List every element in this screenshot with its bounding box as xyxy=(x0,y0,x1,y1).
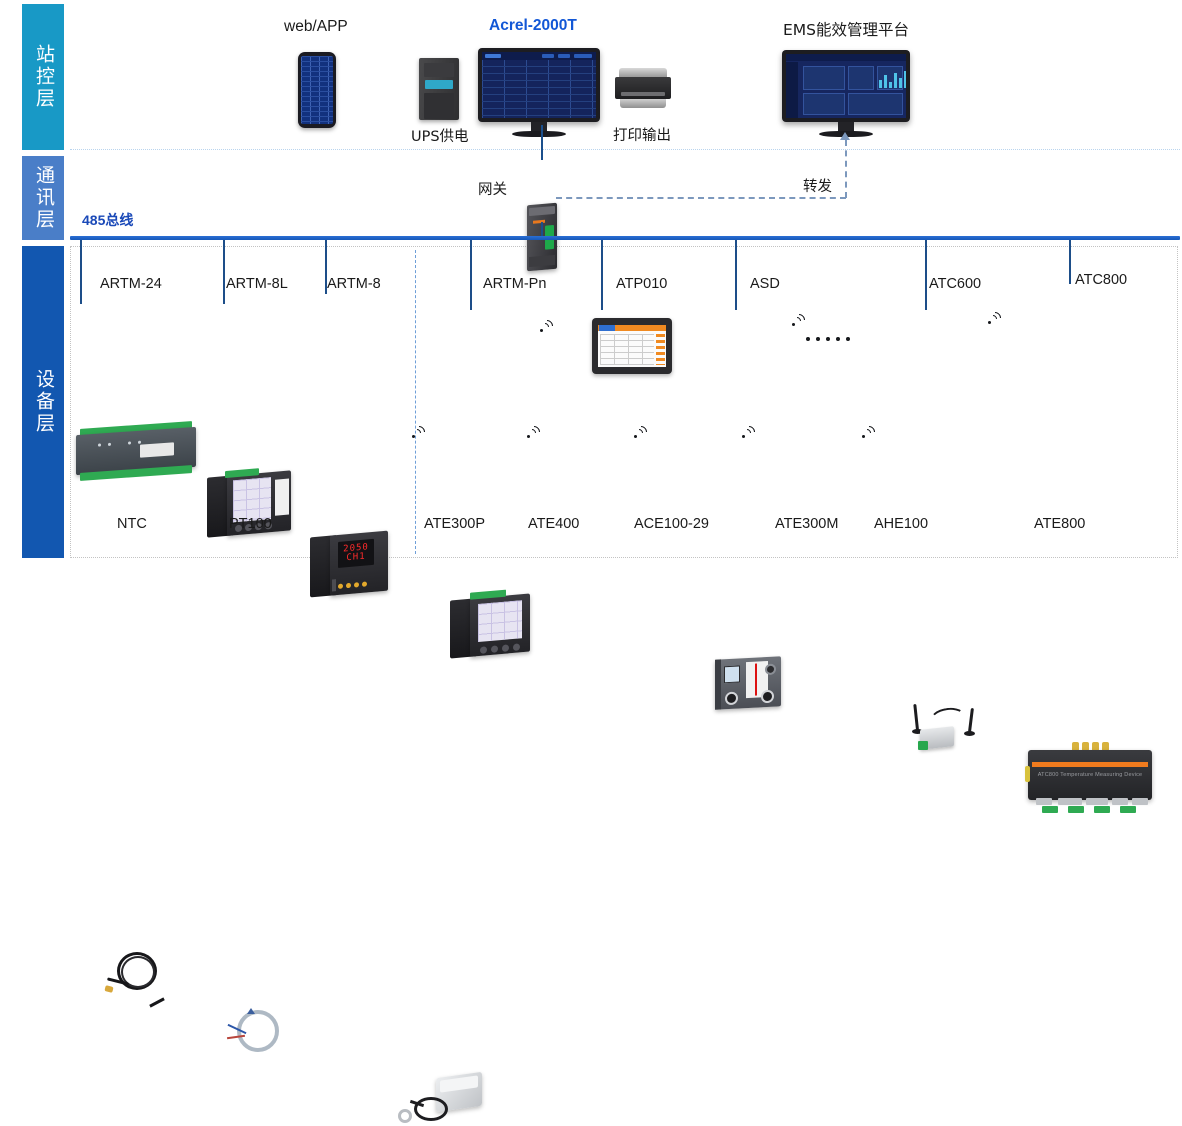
bus-drop-atp010 xyxy=(601,240,603,310)
ace100-29-label: ACE100-29 xyxy=(634,516,709,532)
layer-tab-communication-label: 通讯层 xyxy=(31,165,55,231)
artm-pn-device-icon xyxy=(450,594,530,659)
atc800-label: ATC800 xyxy=(1075,272,1127,288)
acrel-2000t-label: Acrel-2000T xyxy=(489,17,577,35)
artm-24-label: ARTM-24 xyxy=(100,276,162,292)
bus-drop-atc600 xyxy=(925,240,927,310)
ntc-label: NTC xyxy=(117,516,147,532)
printer-label: 打印输出 xyxy=(613,124,671,145)
artm-pn-wireless-icon xyxy=(540,318,557,332)
bus-drop-atc800 xyxy=(1069,240,1071,284)
web-app-label: web/APP xyxy=(284,18,348,36)
asd-label: ASD xyxy=(750,276,780,292)
artm-8-device-icon: 2050 CH1 xyxy=(310,531,388,598)
ems-platform-label: EMS能效管理平台 xyxy=(783,18,909,40)
bus-drop-asd xyxy=(735,240,737,310)
atc600-label: ATC600 xyxy=(929,276,981,292)
layer-tab-station-label: 站控层 xyxy=(31,44,55,110)
ems-platform-monitor-icon xyxy=(782,50,910,137)
ntc-sensor-icon xyxy=(105,946,167,1006)
ahe100-wireless-icon xyxy=(862,424,879,438)
ate300m-wireless-icon xyxy=(742,424,759,438)
architecture-diagram: 站控层 通讯层 设备层 web/APP UPS供电 Acrel-2000T xyxy=(0,0,1182,563)
ups-label: UPS供电 xyxy=(411,125,469,146)
bus-drop-artm-pn xyxy=(470,240,472,310)
monitor-gateway-link xyxy=(541,125,543,160)
ups-device-icon xyxy=(419,58,459,120)
forward-path-horizontal xyxy=(556,197,846,199)
forward-path-vertical xyxy=(845,140,847,198)
ace100-29-wireless-icon xyxy=(634,424,651,438)
pt100-sensor-icon xyxy=(225,1006,287,1066)
layer-tab-device-label: 设备层 xyxy=(31,369,55,435)
layer-tab-communication: 通讯层 xyxy=(22,156,64,240)
atc800-device-icon: ATC800 Temperature Measuring Device xyxy=(1028,742,1152,808)
bus-drop-artm-8l xyxy=(223,240,225,304)
rs485-bus-bar xyxy=(70,236,1180,240)
artm-24-device-icon xyxy=(76,421,196,481)
web-app-phone-icon xyxy=(298,52,336,128)
ate300p-label: ATE300P xyxy=(424,516,485,532)
printer-icon xyxy=(615,68,671,112)
ahe100-label: AHE100 xyxy=(874,516,928,532)
wired-wireless-divider xyxy=(415,250,416,554)
asd-more-devices-dots xyxy=(806,337,850,341)
bus-drop-artm-24 xyxy=(80,240,82,304)
atp010-device-icon xyxy=(592,318,672,374)
ate400-label: ATE400 xyxy=(528,516,579,532)
gateway-label: 网关 xyxy=(478,178,507,199)
layer-tab-device: 设备层 xyxy=(22,246,64,558)
artm-8-display-line2: CH1 xyxy=(346,553,365,564)
atc800-device-text: ATC800 Temperature Measuring Device xyxy=(1028,772,1152,778)
asd-wireless-icon xyxy=(792,312,809,326)
atc600-wireless-icon xyxy=(988,310,1005,324)
ate400-wireless-icon xyxy=(527,424,544,438)
forward-path-arrow-icon xyxy=(840,132,850,140)
pt100-label: PT100 xyxy=(229,516,272,532)
atc600-device-icon xyxy=(908,702,986,752)
ate300p-wireless-icon xyxy=(412,424,429,438)
artm-8l-label: ARTM-8L xyxy=(226,276,288,292)
asd-device-icon xyxy=(715,656,781,709)
ate300m-label: ATE300M xyxy=(775,516,838,532)
forward-label: 转发 xyxy=(803,175,832,196)
acrel-2000t-monitor-icon xyxy=(478,48,600,137)
artm-8-label: ARTM-8 xyxy=(327,276,381,292)
ate300p-sensor-icon xyxy=(398,1069,486,1126)
layer-tab-station: 站控层 xyxy=(22,4,64,150)
artm-pn-label: ARTM-Pn xyxy=(483,276,546,292)
atp010-label: ATP010 xyxy=(616,276,667,292)
ate800-label: ATE800 xyxy=(1034,516,1085,532)
bus-label: 485总线 xyxy=(82,210,133,230)
